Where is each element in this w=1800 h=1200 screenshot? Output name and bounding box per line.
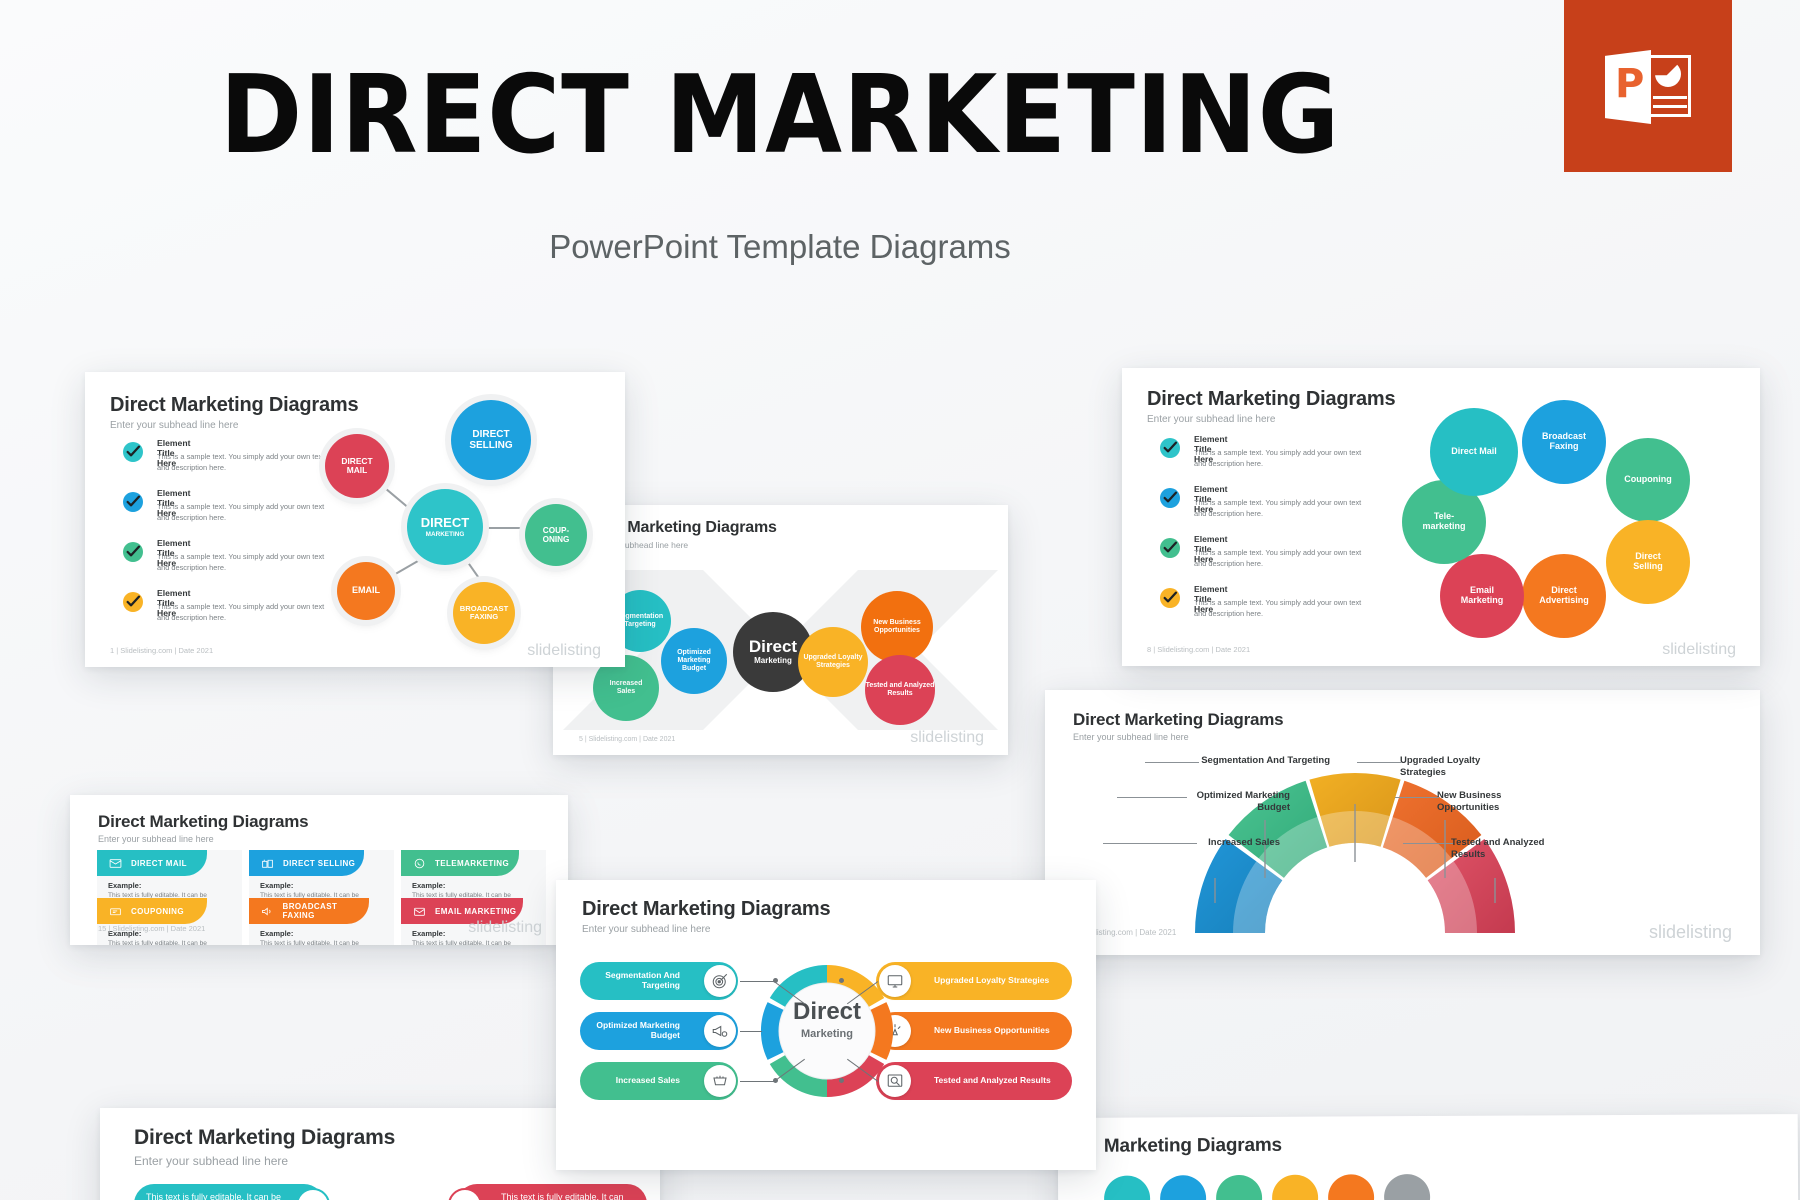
card-header-direct-mail[interactable]: DIRECT MAIL	[97, 850, 207, 876]
leader-line	[1357, 762, 1401, 763]
card-title: COUPONING	[131, 907, 184, 916]
node-label: Direct Mail	[1451, 447, 1497, 457]
bullet-body: This is a sample text. You simply add yo…	[157, 451, 325, 473]
node-label: Budget	[682, 665, 706, 673]
node-label: DIRECT	[472, 429, 509, 440]
check-icon	[123, 592, 143, 612]
megaphone-money-icon	[704, 1015, 736, 1047]
slide-title: Direct Marketing Diagrams	[98, 812, 308, 832]
card-title: TELEMARKETING	[435, 859, 509, 868]
node-label: Faxing	[1549, 442, 1578, 452]
node-label: Increased	[610, 680, 643, 688]
node-direct-mail[interactable]: DIRECT MAIL	[325, 434, 389, 498]
node-label: Marketing	[1461, 596, 1504, 606]
node-direct-marketing[interactable]: DIRECT MARKETING	[407, 489, 483, 565]
pill-label: Tested and Analyzed Results	[934, 1076, 1051, 1086]
connector-dot	[773, 1078, 778, 1083]
slide-subhead: Enter your subhead line here	[1073, 732, 1189, 742]
card-example-label: Example:	[108, 881, 141, 890]
pill-label: Optimized Marketing Budget	[580, 1021, 680, 1041]
card-header-direct-selling[interactable]: DIRECT SELLING	[249, 850, 364, 876]
poster-canvas: DIRECT MARKETING PowerPoint Template Dia…	[0, 0, 1800, 1200]
slide-thumbnail-4[interactable]: Direct Marketing Diagrams Enter your sub…	[70, 795, 568, 945]
slide-thumbnail-7[interactable]: Marketing Diagrams	[1058, 1114, 1799, 1200]
bullet-body: This is a sample text. You simply add yo…	[157, 551, 325, 573]
bullet-body: This is a sample text. You simply add yo…	[157, 501, 325, 523]
brand-mark: slidelisting	[468, 919, 542, 937]
brand-mark: slidelisting	[910, 729, 984, 747]
pill-right[interactable]: This text is fully editable. It can be r…	[457, 1184, 647, 1200]
node-label: Upgraded Loyalty	[803, 654, 862, 662]
node-new-business[interactable]: New Business Opportunities	[861, 591, 933, 663]
node-direct-mail[interactable]: Direct Mail	[1430, 408, 1518, 496]
card-header-couponing[interactable]: COUPONING	[97, 898, 207, 924]
pill-left[interactable]: This text is fully editable. It can be r…	[134, 1184, 324, 1200]
slide-footer: 1 | Slidelisting.com | Date 2021	[110, 646, 213, 655]
card-title: EMAIL MARKETING	[435, 907, 516, 916]
chip[interactable]	[1272, 1175, 1318, 1200]
slide-footer: 5 | Slidelisting.com | Date 2021	[579, 736, 675, 743]
leader-line	[1395, 797, 1439, 798]
node-label: EMAIL	[352, 586, 380, 596]
node-label: ONING	[543, 535, 570, 544]
leader-line	[1117, 797, 1187, 798]
check-icon	[123, 492, 143, 512]
target-icon-glyph	[711, 972, 729, 990]
node-label: Targeting	[624, 621, 655, 629]
card-header-telemarketing[interactable]: TELEMARKETING	[401, 850, 519, 876]
node-direct-selling[interactable]: DIRECT SELLING	[451, 400, 531, 480]
pill-left-label: This text is fully editable. It can be r…	[146, 1192, 281, 1200]
donut-center-subtitle: Marketing	[752, 1028, 902, 1040]
brand-mark: slidelisting	[527, 642, 601, 660]
chip[interactable]	[1328, 1174, 1374, 1200]
slide-subhead: Enter your subhead line here	[134, 1154, 288, 1168]
card-example-label: Example:	[260, 881, 293, 890]
page-subtitle: PowerPoint Template Diagrams	[0, 228, 1560, 266]
slide-subhead: Enter your subhead line here	[1147, 414, 1275, 425]
card-example-label: Example:	[260, 929, 293, 938]
arc-label-right-2: Tested and Analyzed Results	[1451, 837, 1561, 862]
node-direct-selling[interactable]: Direct Selling	[1606, 520, 1690, 604]
node-email[interactable]: EMAIL	[337, 562, 395, 620]
chip[interactable]	[1104, 1175, 1150, 1200]
connector	[740, 981, 776, 982]
shopping-cart-icon	[704, 1065, 736, 1097]
center-node-label: Direct	[749, 638, 797, 657]
leader-line	[1145, 762, 1199, 763]
node-direct-advertising[interactable]: Direct Advertising	[1522, 554, 1606, 638]
target-icon	[704, 965, 736, 997]
node-optimized-budget[interactable]: Optimized Marketing Budget	[661, 628, 727, 694]
node-label: DIRECT	[421, 516, 469, 530]
node-label: Selling	[1633, 562, 1663, 572]
slide-title: Direct Marketing Diagrams	[110, 394, 358, 417]
slide-subhead: Enter your subhead line here	[110, 420, 238, 431]
node-couponing[interactable]: Couponing	[1606, 438, 1690, 522]
bullet-body: This is a sample text. You simply add yo…	[1194, 497, 1362, 519]
slide-title: Direct Marketing Diagrams	[1073, 710, 1283, 730]
arc-label-left-0: Segmentation And Targeting	[1200, 755, 1330, 767]
node-label: FAXING	[470, 613, 498, 621]
slide-subhead: Enter your subhead line here	[98, 834, 214, 844]
powerpoint-icon-letter: P	[1615, 64, 1644, 104]
arc-label-right-0: Upgraded Loyalty Strategies	[1400, 755, 1520, 780]
check-icon	[1160, 588, 1180, 608]
node-tested-results[interactable]: Tested and Analyzed Results	[865, 655, 935, 725]
node-label: New Business	[873, 619, 920, 627]
slide-title: Direct Marketing Diagrams	[1147, 388, 1395, 411]
node-label: SELLING	[469, 440, 512, 451]
pill-right-label: This text is fully editable. It can be r…	[501, 1192, 629, 1200]
connector-dot	[839, 978, 844, 983]
page-title: DIRECT MARKETING	[62, 62, 1497, 170]
node-sublabel: MARKETING	[426, 531, 465, 538]
megaphone-money-icon-glyph	[711, 1022, 729, 1040]
powerpoint-icon-line	[1653, 114, 1687, 117]
powerpoint-icon-line	[1653, 105, 1687, 108]
node-label: Advertising	[1539, 596, 1589, 606]
node-broadcast-faxing[interactable]: BROADCAST FAXING	[453, 582, 515, 644]
card-example-label: Example:	[412, 881, 445, 890]
pill-label: New Business Opportunities	[934, 1026, 1050, 1036]
slide-thumbnail-6[interactable]: Direct Marketing Diagrams Enter your sub…	[1045, 690, 1760, 955]
connector-dot	[839, 1078, 844, 1083]
broadcast-faxing-icon	[261, 905, 274, 918]
pill-label: Increased Sales	[616, 1076, 680, 1086]
node-email-marketing[interactable]: Email Marketing	[1440, 554, 1524, 638]
node-upgraded-loyalty[interactable]: Upgraded Loyalty Strategies	[798, 627, 868, 697]
node-label: Tested and Analyzed	[866, 682, 935, 690]
leader-line	[1403, 843, 1453, 844]
slide-title: Marketing Diagrams	[1104, 1135, 1282, 1158]
chip-row	[1104, 1174, 1430, 1200]
card-title: DIRECT MAIL	[131, 859, 187, 868]
arc-label-right-1: New Business Opportunities	[1437, 790, 1557, 815]
check-icon	[123, 442, 143, 462]
node-couponing[interactable]: COUP- ONING	[525, 504, 587, 566]
powerpoint-icon-line	[1653, 96, 1687, 99]
card-title: DIRECT SELLING	[283, 859, 355, 868]
node-label: Results	[887, 690, 912, 698]
chip[interactable]	[1160, 1175, 1206, 1200]
slide-thumbnail-2[interactable]: Direct Marketing Diagrams Enter your sub…	[1122, 368, 1760, 666]
connector	[740, 1081, 776, 1082]
connector-dot	[773, 978, 778, 983]
chip[interactable]	[1384, 1174, 1430, 1200]
slide-title: Direct Marketing Diagrams	[134, 1126, 395, 1150]
card-title: BROADCAST FAXING	[283, 902, 369, 920]
slide-subhead: Enter your subhead line here	[582, 924, 710, 935]
telemarketing-icon	[413, 857, 426, 870]
pill-label: Upgraded Loyalty Strategies	[934, 976, 1049, 986]
direct-selling-icon	[261, 857, 274, 870]
node-label: Optimized Marketing	[661, 649, 727, 664]
powerpoint-icon: P	[1564, 0, 1732, 172]
email-marketing-icon	[413, 905, 426, 918]
bullet-body: This is a sample text. You simply add yo…	[157, 601, 325, 623]
center-node-sublabel: Marketing	[754, 657, 792, 666]
bullet-body: This is a sample text. You simply add yo…	[1194, 597, 1362, 619]
node-label: Opportunities	[874, 627, 920, 635]
bullet-body: This is a sample text. You simply add yo…	[1194, 547, 1362, 569]
check-icon	[1160, 488, 1180, 508]
node-label: marketing	[1422, 522, 1465, 532]
slide-thumbnail-5[interactable]: Direct Marketing Diagrams Enter your sub…	[556, 880, 1096, 1170]
card-text: This text is fully editable. It can be r…	[260, 939, 370, 945]
shopping-cart-icon-glyph	[711, 1072, 729, 1090]
slide-title: Direct Marketing Diagrams	[582, 898, 830, 921]
card-text: This text is fully editable. It can be r…	[108, 939, 218, 945]
arc-label-left-1: Optimized Marketing Budget	[1170, 790, 1290, 815]
slide-footer: 8 | Slidelisting.com | Date 2021	[1147, 645, 1250, 654]
node-broadcast-faxing[interactable]: Broadcast Faxing	[1522, 400, 1606, 484]
node-label: Sales	[617, 688, 635, 696]
brand-mark: slidelisting	[1649, 922, 1732, 943]
node-label: Couponing	[1624, 475, 1671, 485]
node-label: COUP-	[543, 526, 569, 535]
chip[interactable]	[1216, 1175, 1262, 1200]
couponing-icon	[109, 905, 122, 918]
donut-center-title: Direct	[752, 998, 902, 1026]
slide-thumbnail-1[interactable]: Direct Marketing Diagrams Enter your sub…	[85, 372, 625, 667]
direct-mail-icon	[109, 857, 122, 870]
connector	[740, 1031, 762, 1032]
node-label: Strategies	[816, 662, 850, 670]
slide-footer: 15 | Slidelisting.com | Date 2021	[98, 924, 205, 933]
card-example-label: Example:	[412, 929, 445, 938]
card-header-broadcast-faxing[interactable]: BROADCAST FAXING	[249, 898, 369, 924]
leader-line	[1103, 843, 1197, 844]
node-label: MAIL	[347, 466, 367, 475]
pill-label: Segmentation And Targeting	[580, 971, 680, 991]
check-icon	[123, 542, 143, 562]
check-icon	[1160, 538, 1180, 558]
brand-mark: slidelisting	[1662, 641, 1736, 659]
check-icon	[1160, 438, 1180, 458]
card-text: This text is fully editable. It can be r…	[412, 939, 522, 945]
bullet-body: This is a sample text. You simply add yo…	[1194, 447, 1362, 469]
